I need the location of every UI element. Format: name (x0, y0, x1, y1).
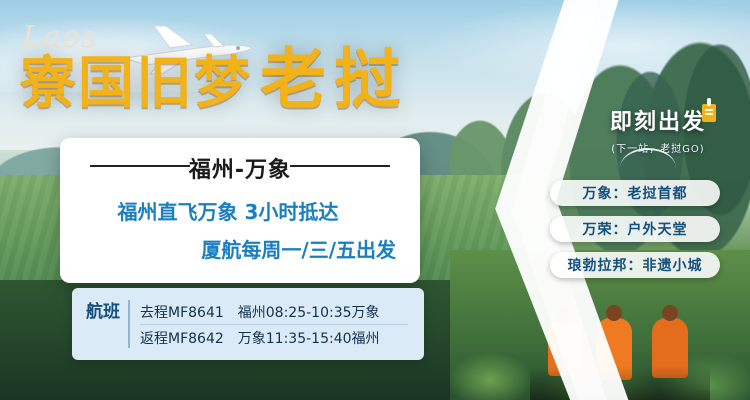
monk-head-2 (606, 305, 622, 321)
flight-outbound: 去程MF8641 福州08:25-10:35万象 (140, 302, 380, 322)
flight-divider (128, 300, 130, 348)
route-card: 福州-万象 福州直飞万象 3小时抵达 厦航每周一/三/五出发 (60, 138, 420, 283)
flight-details-box: 航班 去程MF8641 福州08:25-10:35万象 返程MF8642 万象1… (72, 288, 424, 360)
monk-head-3 (662, 305, 678, 321)
route-line-schedule: 厦航每周一/三/五出发 (201, 234, 396, 263)
flight-row-separator (140, 324, 408, 325)
page-title: 寮国旧梦老挝 (20, 50, 408, 114)
headline-part2: 老挝 (260, 41, 408, 118)
headline-part1: 寮国旧梦 (20, 51, 252, 116)
highlight-pill-vientiane[interactable]: 万象：老挝首都 (550, 180, 720, 206)
flight-inbound: 返程MF8642 万象11:35-15:40福州 (140, 328, 380, 348)
depart-block: 即刻出发 (下一站，老挝GO) (610, 104, 706, 155)
route-line-duration: 福州直飞万象 3小时抵达 (60, 196, 396, 225)
highlight-pill-vangvieng[interactable]: 万荣：户外天堂 (550, 216, 720, 242)
luggage-tag-icon (698, 98, 720, 124)
travel-poster: Laos 寮国旧梦老挝 福州-万象 福州直飞万象 3小时抵达 厦航每周一/三/五… (0, 0, 750, 400)
highlight-pill-luangprabang[interactable]: 琅勃拉邦：非遗小城 (550, 252, 720, 278)
depart-title: 即刻出发 (610, 104, 706, 136)
route-title: 福州-万象 (60, 152, 420, 184)
flight-label: 航班 (86, 300, 120, 324)
